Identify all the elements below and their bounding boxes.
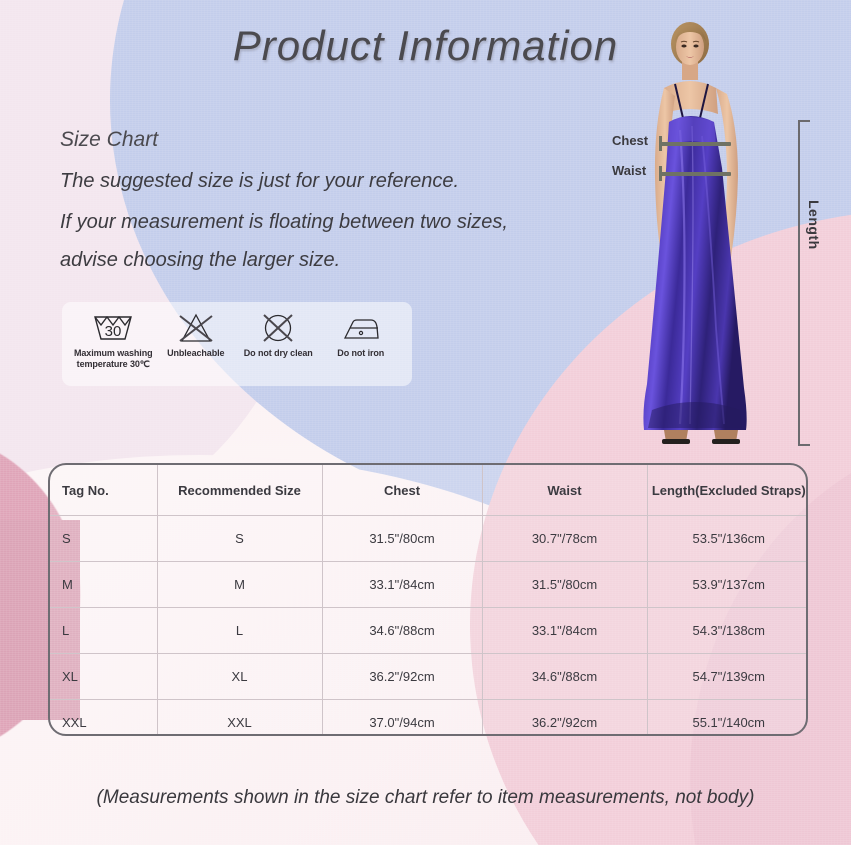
product-information-page: Product Information Size Chart The sugge… [0,0,851,845]
cell-length: 54.7"/139cm [647,654,808,700]
cell-length: 53.9"/137cm [647,562,808,608]
care-item-iron-label: Do not iron [337,348,384,359]
length-measure-bracket [798,120,810,446]
column-header-tag-no: Tag No. [50,465,157,516]
cell-tag-no: M [50,562,157,608]
size-chart-table: Tag No. Recommended Size Chest Waist Len… [50,465,808,736]
cell-length: 55.1"/140cm [647,700,808,737]
cell-chest: 33.1"/84cm [322,562,482,608]
cell-rec-size: XL [157,654,322,700]
column-header-length: Length(Excluded Straps) [647,465,808,516]
footer-note: (Measurements shown in the size chart re… [0,787,851,809]
cell-chest: 34.6"/88cm [322,608,482,654]
intro-line-3: advise choosing the larger size. [60,249,340,272]
size-chart-table-card: Tag No. Recommended Size Chest Waist Len… [48,463,808,736]
cell-chest: 31.5"/80cm [322,516,482,562]
intro-line-1: The suggested size is just for your refe… [60,170,459,193]
cell-waist: 36.2"/92cm [482,700,647,737]
cell-waist: 30.7"/78cm [482,516,647,562]
cell-rec-size: S [157,516,322,562]
table-row: XXL XXL 37.0"/94cm 36.2"/92cm 55.1"/140c… [50,700,808,737]
table-row: XL XL 36.2"/92cm 34.6"/88cm 54.7"/139cm [50,654,808,700]
cell-tag-no: XL [50,654,157,700]
care-item-wash: 30 Maximum washing temperature 30℃ [72,311,155,371]
wash-30-icon: 30 [91,311,135,345]
care-item-dryclean: Do not dry clean [237,311,320,359]
chest-measure-label: Chest [612,133,648,148]
svg-text:30: 30 [105,323,122,340]
model-photo [628,18,810,466]
care-item-dryclean-label: Do not dry clean [244,348,313,359]
cell-chest: 36.2"/92cm [322,654,482,700]
care-item-iron: Do not iron [320,311,403,359]
cell-length: 53.5"/136cm [647,516,808,562]
cell-tag-no: S [50,516,157,562]
cell-length: 54.3"/138cm [647,608,808,654]
no-bleach-icon [176,311,216,345]
column-header-recommended-size: Recommended Size [157,465,322,516]
cell-waist: 34.6"/88cm [482,654,647,700]
chest-measure-bar [659,142,731,146]
care-wash-label-line2: temperature 30℃ [77,359,150,369]
care-wash-label-line1: Maximum washing [74,348,153,358]
waist-measure-bar [659,172,731,176]
cell-tag-no: XXL [50,700,157,737]
cell-rec-size: M [157,562,322,608]
waist-measure-label: Waist [612,163,646,178]
cell-rec-size: XXL [157,700,322,737]
no-iron-icon [339,311,383,345]
table-row: L L 34.6"/88cm 33.1"/84cm 54.3"/138cm [50,608,808,654]
cell-tag-no: L [50,608,157,654]
size-chart-heading: Size Chart [60,128,158,152]
table-header-row: Tag No. Recommended Size Chest Waist Len… [50,465,808,516]
cell-waist: 31.5"/80cm [482,562,647,608]
table-row: M M 33.1"/84cm 31.5"/80cm 53.9"/137cm [50,562,808,608]
cell-waist: 33.1"/84cm [482,608,647,654]
column-header-chest: Chest [322,465,482,516]
intro-line-2: If your measurement is floating between … [60,211,508,234]
care-item-bleach: Unbleachable [155,311,238,359]
care-item-wash-label: Maximum washing temperature 30℃ [74,348,153,371]
column-header-waist: Waist [482,465,647,516]
no-dry-clean-icon [260,311,296,345]
care-item-bleach-label: Unbleachable [167,348,224,359]
cell-chest: 37.0"/94cm [322,700,482,737]
length-measure-label: Length [806,200,822,250]
care-instructions-list: 30 Maximum washing temperature 30℃ Unble… [62,302,412,386]
cell-rec-size: L [157,608,322,654]
table-row: S S 31.5"/80cm 30.7"/78cm 53.5"/136cm [50,516,808,562]
